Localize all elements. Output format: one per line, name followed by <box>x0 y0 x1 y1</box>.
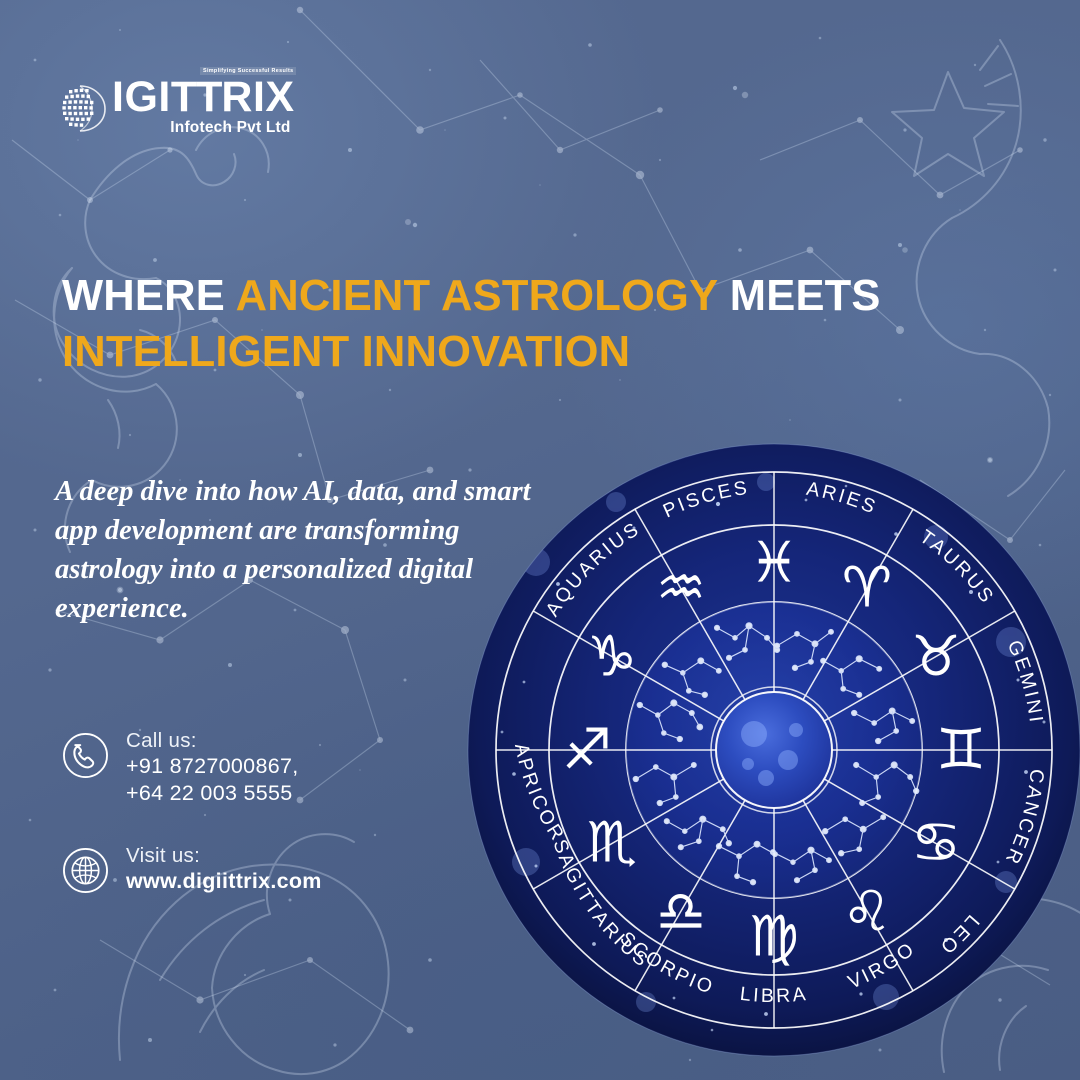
glyph-sagittarius: ♐ <box>562 718 612 783</box>
phone-icon <box>62 732 109 779</box>
glyph-aries: ♈ <box>842 556 892 621</box>
visit-us-label: Visit us: <box>126 843 322 868</box>
wheel-name-libra: LIBRA <box>739 983 809 1007</box>
headline-line-1: WHERE ANCIENT ASTROLOGY MEETS <box>62 269 922 325</box>
logo-wordmark: IGITTRIX <box>112 76 295 118</box>
glyph-scorpio: ♏ <box>587 811 637 876</box>
zodiac-wheel: PISCES ARIES TAURUS GEMINI CANCER LEO VI… <box>466 442 1080 1058</box>
logo-word-tail: RIX <box>221 73 294 121</box>
website-url[interactable]: www.digiittrix.com <box>126 868 322 895</box>
call-us-label: Call us: <box>126 728 299 753</box>
phone-number-1[interactable]: +91 8727000867, <box>126 753 299 780</box>
phone-number-2[interactable]: +64 22 003 5555 <box>126 780 299 807</box>
globe-icon <box>62 847 109 894</box>
glyph-pisces: ♓ <box>749 531 799 596</box>
headline-word-where: WHERE <box>62 272 236 320</box>
glyph-capricorn: ♑ <box>587 625 637 690</box>
headline-line-2: INTELLIGENT INNOVATION <box>62 325 922 381</box>
contact-call-block[interactable]: Call us: +91 8727000867, +64 22 003 5555 <box>62 728 299 806</box>
logo-word-bars: TT <box>171 73 222 121</box>
aquarius-figure-outline <box>917 40 1050 496</box>
glyph-taurus: ♉ <box>911 625 961 690</box>
logo-subtitle: Infotech Pvt Ltd <box>112 119 295 137</box>
glyph-cancer: ♋ <box>911 811 961 876</box>
headline-accent-ancient-astrology: ANCIENT ASTROLOGY <box>236 272 718 320</box>
glyph-gemini: ♊ <box>936 718 986 783</box>
glyph-leo: ♌ <box>842 880 892 945</box>
headline-word-meets: MEETS <box>718 272 881 320</box>
logo-word-part1: IGI <box>112 73 171 121</box>
page-headline: WHERE ANCIENT ASTROLOGY MEETS INTELLIGEN… <box>62 269 922 380</box>
glyph-virgo: ♍ <box>749 905 799 970</box>
poster-canvas: Simplifying Successful Results IGITTRIX … <box>0 0 1080 1080</box>
logo-tagline: Simplifying Successful Results <box>200 67 296 75</box>
glyph-libra: ♎ <box>656 880 706 945</box>
digiittrix-globe-icon <box>58 82 110 134</box>
star-doodle <box>892 46 1018 176</box>
glyph-aquarius: ♒ <box>656 556 706 621</box>
brand-logo[interactable]: Simplifying Successful Results IGITTRIX … <box>58 76 295 137</box>
zodiac-wheel-svg: PISCES ARIES TAURUS GEMINI CANCER LEO VI… <box>466 442 1080 1058</box>
contact-website-block[interactable]: Visit us: www.digiittrix.com <box>62 843 322 895</box>
